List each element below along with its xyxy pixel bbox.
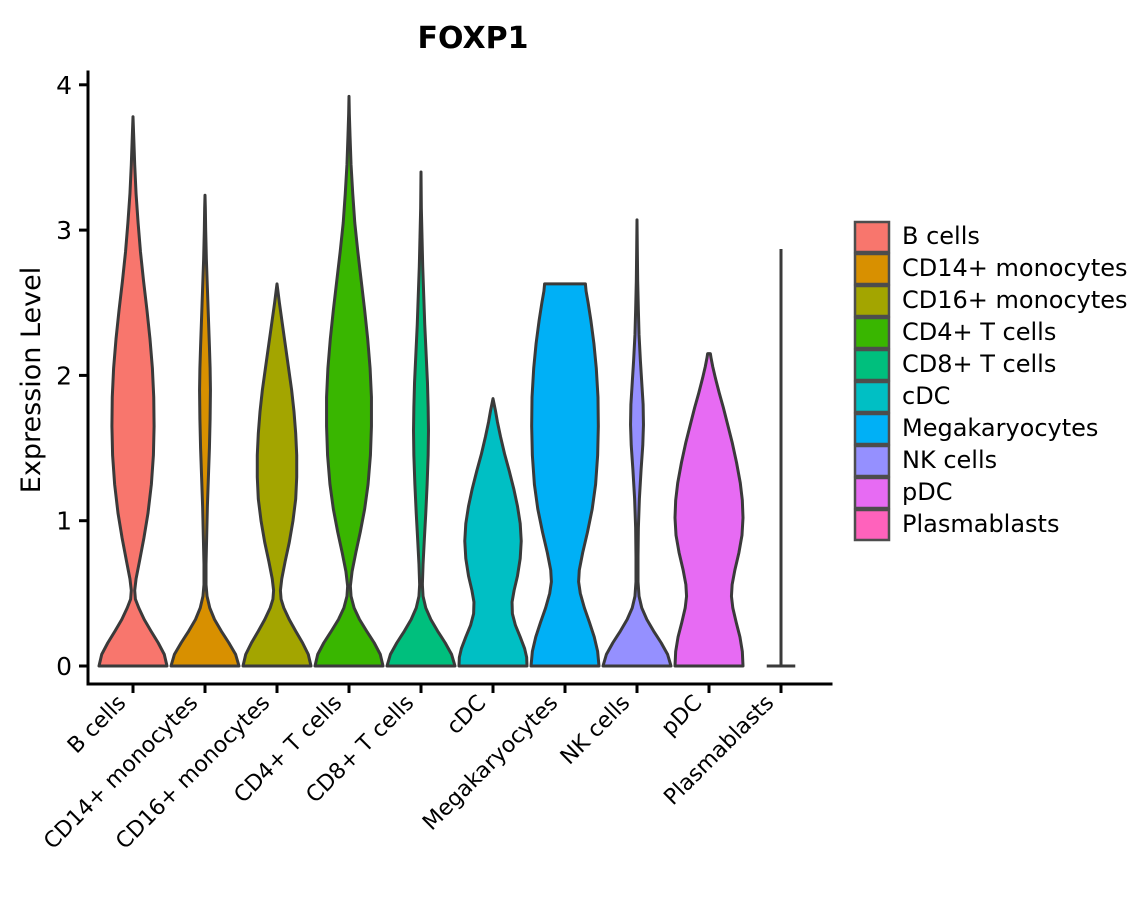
- violin-nk-cells[interactable]: [603, 220, 671, 666]
- violin-body[interactable]: [243, 284, 311, 666]
- violin-body[interactable]: [603, 220, 671, 666]
- chart-canvas: FOXP1 Expression Level 01234 B cellsCD14…: [0, 0, 1140, 900]
- x-axis: [88, 684, 831, 693]
- legend-label-plasmablasts: Plasmablasts: [902, 510, 1059, 538]
- x-tick-label-megakaryocytes: Megakaryocytes: [418, 691, 563, 836]
- page-title: FOXP1: [418, 21, 529, 56]
- y-axis-title: Expression Level: [16, 267, 47, 493]
- legend-swatch-cdc[interactable]: [855, 382, 889, 412]
- violin-plasmablasts[interactable]: [767, 249, 796, 666]
- legend-label-b-cells: B cells: [902, 222, 980, 250]
- legend-swatch-megakaryocytes[interactable]: [855, 414, 889, 444]
- legend-swatch-b-cells[interactable]: [855, 222, 889, 252]
- x-tick-label-nk-cells: NK cells: [556, 691, 635, 770]
- y-tick-label: 0: [56, 652, 72, 681]
- legend-swatch-cd16-monocytes[interactable]: [855, 286, 889, 316]
- legend: B cellsCD14+ monocytesCD16+ monocytesCD4…: [855, 222, 1128, 540]
- y-axis: 01234: [56, 71, 88, 684]
- violin-megakaryocytes[interactable]: [531, 284, 599, 666]
- violin-body[interactable]: [315, 96, 383, 666]
- x-tick-label-b-cells: B cells: [63, 691, 131, 759]
- violin-body[interactable]: [171, 195, 239, 666]
- violin-cd4-t-cells[interactable]: [315, 96, 383, 666]
- legend-swatch-cd14-monocytes[interactable]: [855, 254, 889, 284]
- violin-b-cells[interactable]: [99, 117, 167, 666]
- legend-label-pdc: pDC: [902, 478, 952, 506]
- x-tick-labels: B cellsCD14+ monocytesCD16+ monocytesCD4…: [39, 691, 779, 855]
- violin-body[interactable]: [675, 354, 743, 666]
- y-tick-label: 4: [56, 71, 72, 100]
- x-tick-label-cdc: cDC: [442, 691, 491, 740]
- legend-swatch-cd4-t-cells[interactable]: [855, 318, 889, 348]
- violin-body[interactable]: [459, 399, 527, 666]
- legend-label-cd4-t-cells: CD4+ T cells: [902, 318, 1056, 346]
- violin-cd8-t-cells[interactable]: [387, 172, 455, 666]
- legend-swatch-plasmablasts[interactable]: [855, 510, 889, 540]
- legend-label-cd8-t-cells: CD8+ T cells: [902, 350, 1056, 378]
- x-tick-label-pdc: pDC: [657, 691, 707, 741]
- y-tick-label: 1: [56, 507, 72, 536]
- legend-label-cd16-monocytes: CD16+ monocytes: [902, 286, 1128, 314]
- violin-cd14-monocytes[interactable]: [171, 195, 239, 666]
- legend-label-nk-cells: NK cells: [902, 446, 997, 474]
- legend-swatch-cd8-t-cells[interactable]: [855, 350, 889, 380]
- violin-cd16-monocytes[interactable]: [243, 284, 311, 666]
- violin-series-group: [99, 96, 795, 666]
- violin-body[interactable]: [531, 284, 599, 666]
- violin-pdc[interactable]: [675, 354, 743, 666]
- violin-body[interactable]: [387, 172, 455, 666]
- legend-label-cd14-monocytes: CD14+ monocytes: [902, 254, 1128, 282]
- legend-swatch-nk-cells[interactable]: [855, 446, 889, 476]
- y-tick-label: 2: [56, 361, 72, 390]
- legend-label-megakaryocytes: Megakaryocytes: [902, 414, 1098, 442]
- violin-cdc[interactable]: [459, 399, 527, 666]
- y-tick-label: 3: [56, 216, 72, 245]
- violin-plot-figure: FOXP1 Expression Level 01234 B cellsCD14…: [0, 0, 1140, 900]
- legend-label-cdc: cDC: [902, 382, 950, 410]
- legend-swatch-pdc[interactable]: [855, 478, 889, 508]
- violin-body[interactable]: [99, 117, 167, 666]
